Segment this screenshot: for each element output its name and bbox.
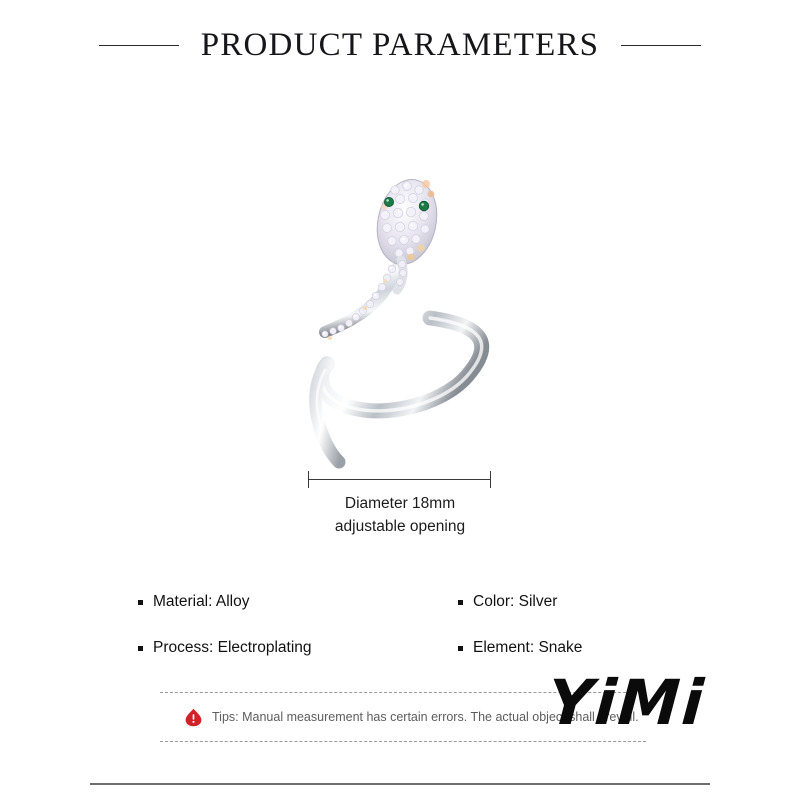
title-rule-left <box>99 45 179 46</box>
dimension-cap-right <box>490 471 491 488</box>
bullet-square-icon <box>458 646 463 651</box>
spec-label-color: Color: Silver <box>473 592 557 612</box>
spec-list: Material: Alloy Color: Silver Process: E… <box>138 592 668 684</box>
spec-label-material: Material: Alloy <box>153 592 249 612</box>
product-image <box>255 150 545 480</box>
spec-row: Process: Electroplating Element: Snake <box>138 638 668 684</box>
tips-text: Tips: Manual measurement has certain err… <box>212 709 639 725</box>
bullet-square-icon <box>458 600 463 605</box>
spec-row: Material: Alloy Color: Silver <box>138 592 668 638</box>
dimension-label: Diameter 18mm <box>200 492 600 515</box>
spec-item-element: Element: Snake <box>458 638 668 684</box>
tips-banner: Tips: Manual measurement has certain err… <box>160 692 646 742</box>
dimension-sub-label: adjustable opening <box>200 515 600 538</box>
spec-label-process: Process: Electroplating <box>153 638 312 658</box>
page-header: PRODUCT PARAMETERS <box>0 22 800 68</box>
bullet-square-icon <box>138 600 143 605</box>
spec-label-element: Element: Snake <box>473 638 582 658</box>
spec-item-color: Color: Silver <box>458 592 668 638</box>
title-rule-right <box>621 45 701 46</box>
spec-item-material: Material: Alloy <box>138 592 458 638</box>
page-title: PRODUCT PARAMETERS <box>201 29 599 62</box>
bullet-square-icon <box>138 646 143 651</box>
dimension-rule <box>308 479 491 480</box>
warning-icon <box>184 708 203 727</box>
bottom-divider <box>90 783 710 785</box>
dimension-caption: Diameter 18mm adjustable opening <box>200 492 600 538</box>
spec-item-process: Process: Electroplating <box>138 638 458 684</box>
dimension-line <box>308 471 491 488</box>
